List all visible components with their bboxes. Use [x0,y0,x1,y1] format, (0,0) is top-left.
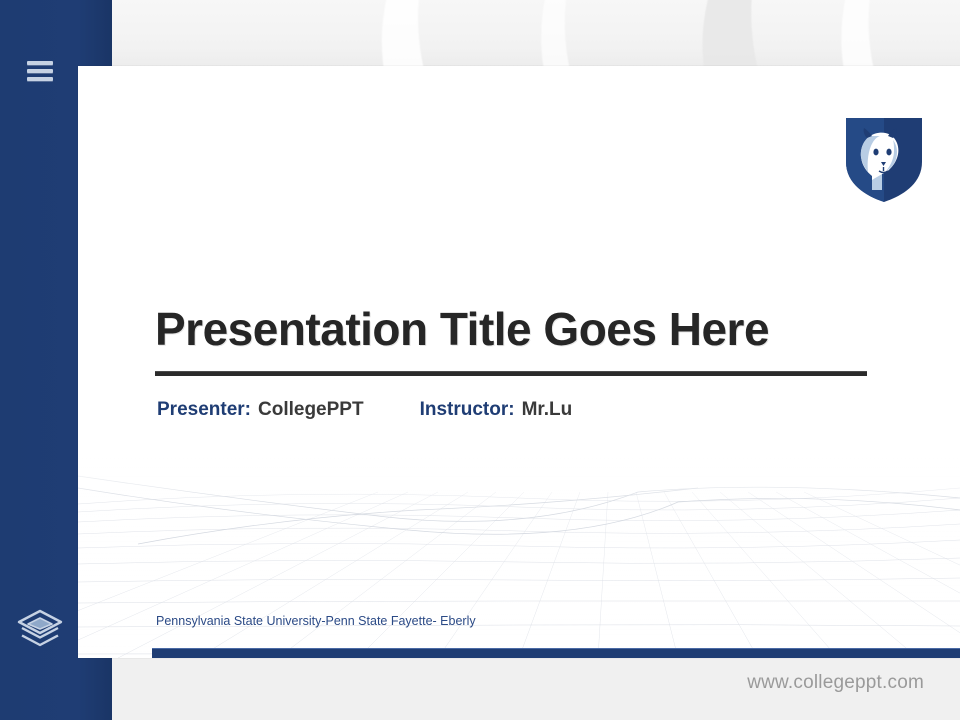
page-title[interactable]: Presentation Title Goes Here [155,305,875,353]
layers-stack-icon [15,607,65,653]
instructor-label: Instructor: [420,399,515,421]
site-watermark: www.collegeppt.com [747,672,924,694]
title-block: Presentation Title Goes Here [155,305,875,376]
title-underline-rule [155,371,867,376]
presenter-label: Presenter: [157,399,251,421]
background-swoosh-decoration [0,0,960,68]
presenter-instructor-row: Presenter: CollegePPT Instructor: Mr.Lu [157,399,572,421]
hamburger-menu-icon [27,57,53,85]
menu-button[interactable] [0,56,80,86]
slide-canvas[interactable]: Presentation Title Goes Here Presenter: … [78,66,960,658]
institution-credit: Pennsylvania State University-Penn State… [156,614,476,628]
penn-state-nittany-lion-shield-logo [836,110,932,206]
presentation-preview: Presentation Title Goes Here Presenter: … [0,0,960,720]
presenter-value[interactable]: CollegePPT [258,399,364,421]
wireframe-mesh-graphic [78,458,960,658]
slide-bottom-accent-bar [152,648,960,658]
instructor-value[interactable]: Mr.Lu [522,399,573,421]
layers-button[interactable] [0,600,80,660]
